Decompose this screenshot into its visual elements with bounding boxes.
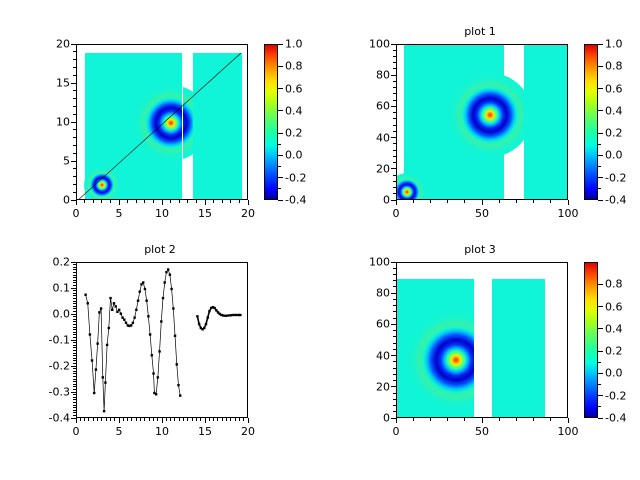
ytick-minor-2-2-1 <box>73 316 76 317</box>
plot-2-marker <box>227 314 229 316</box>
ytick-minor-1-3-4 <box>393 81 396 82</box>
ytick-minor-2-0-7 <box>73 280 76 281</box>
cbar-tick-3-1 <box>598 306 603 307</box>
plot-3-image <box>397 263 567 417</box>
ytick-minor-0-0-2 <box>73 184 76 185</box>
xticklabel-1-2: 100 <box>558 207 579 220</box>
ytick-minor-1-3-1 <box>393 100 396 101</box>
cbar-minortick-0-1 <box>278 188 281 189</box>
colorbar-gradient-0 <box>265 45 277 199</box>
plot-2-marker <box>145 300 147 302</box>
ytick-major-1-2 <box>391 137 396 138</box>
ytick-major-3-3 <box>391 324 396 325</box>
ytick-minor-2-2-4 <box>73 324 76 325</box>
ytick-minor-2-5-3 <box>73 399 76 400</box>
plot-2-marker <box>139 290 141 292</box>
yticklabel-0-2: 10 <box>28 116 70 129</box>
xticklabel-0-2: 10 <box>155 207 169 220</box>
plot-2-marker <box>87 302 89 304</box>
ytick-major-1-1 <box>391 168 396 169</box>
xtick-minor-2-2-5 <box>183 418 184 421</box>
cbar-ticklabel-1-1: 0.8 <box>605 60 623 73</box>
xtick-minor-2-0-9 <box>114 418 115 421</box>
plot-2-marker <box>157 376 159 378</box>
plot-2-marker <box>149 333 151 335</box>
xticklabel-2-4: 20 <box>241 425 255 438</box>
xtick-major-3-0 <box>396 418 397 423</box>
ytick-minor-3-4-3 <box>393 274 396 275</box>
cbar-minortick-1-4 <box>598 155 601 156</box>
ytick-minor-2-1-6 <box>73 303 76 304</box>
cbar-ticklabel-1-6: -0.2 <box>605 171 626 184</box>
cbar-ticklabel-3-0: 0.8 <box>605 278 623 291</box>
xticklabel-1-0: 0 <box>393 207 400 220</box>
plot-2-marker <box>225 315 227 317</box>
xtick-minor-3-1-1 <box>499 418 500 421</box>
plot-2-marker <box>116 311 118 313</box>
cbar-ticklabel-1-3: 0.4 <box>605 104 623 117</box>
ytick-major-2-6 <box>71 418 76 419</box>
ytick-major-2-5 <box>71 392 76 393</box>
cbar-ticklabel-0-7: -0.4 <box>285 194 306 207</box>
plot-2-marker <box>137 300 139 302</box>
xtick-minor-0-3-3 <box>230 200 231 203</box>
xtick-major-2-3 <box>205 418 206 423</box>
ytick-major-0-2 <box>71 122 76 123</box>
ytick-minor-3-4-2 <box>393 280 396 281</box>
plot-0-image <box>77 45 247 199</box>
xtick-minor-0-3-1 <box>213 200 214 203</box>
colorbar-1[interactable] <box>584 44 598 200</box>
plot-2-marker <box>158 350 160 352</box>
plot-2-marker <box>165 271 167 273</box>
ytick-minor-3-3-4 <box>393 299 396 300</box>
ytick-minor-0-1-1 <box>73 153 76 154</box>
plot-2-marker <box>108 327 110 329</box>
ytick-minor-3-4-1 <box>393 286 396 287</box>
xtick-minor-1-1-3 <box>533 200 534 203</box>
xtick-minor-0-2-2 <box>179 200 180 203</box>
ytick-minor-2-4-8 <box>73 386 76 387</box>
ytick-minor-3-2-3 <box>393 336 396 337</box>
ytick-major-3-0 <box>391 418 396 419</box>
plot-2-marker <box>222 314 224 316</box>
cbar-minortick-1-5 <box>598 144 601 145</box>
cbar-ticklabel-0-3: 0.4 <box>285 104 303 117</box>
xticklabel-3-2: 100 <box>558 425 579 438</box>
cbar-ticklabel-3-6: -0.4 <box>605 412 626 425</box>
plot-2-marker <box>179 394 181 396</box>
ytick-minor-2-3-5 <box>73 353 76 354</box>
cbar-minortick-0-4 <box>278 155 281 156</box>
xtick-minor-0-1-1 <box>127 200 128 203</box>
ytick-minor-1-1-4 <box>393 143 396 144</box>
plot-2-marker <box>203 327 205 329</box>
cbar-minortick-3-1 <box>598 406 601 407</box>
ytick-minor-2-5-2 <box>73 397 76 398</box>
xtick-minor-3-1-2 <box>516 418 517 421</box>
ytick-major-2-1 <box>71 288 76 289</box>
ytick-minor-2-1-1 <box>73 290 76 291</box>
plot-2-marker <box>104 381 106 383</box>
ytick-minor-3-4-4 <box>393 268 396 269</box>
plot-2-marker <box>205 323 207 325</box>
xtick-minor-2-3-7 <box>235 418 236 421</box>
plot-2-marker <box>239 314 241 316</box>
ytick-minor-2-2-9 <box>73 337 76 338</box>
xtick-minor-2-0-4 <box>93 418 94 421</box>
xtick-major-1-1 <box>482 200 483 205</box>
plot-2-marker <box>84 294 86 296</box>
cbar-tick-0-1 <box>278 66 283 67</box>
cbar-ticklabel-3-3: 0.2 <box>605 345 623 358</box>
yticklabel-3-3: 60 <box>348 318 390 331</box>
colorbar-gradient-3 <box>585 263 597 417</box>
ytick-minor-2-5-5 <box>73 405 76 406</box>
subplot-1-title: plot 1 <box>320 26 640 38</box>
cbar-minortick-1-6 <box>598 133 601 134</box>
ytick-minor-2-0-5 <box>73 275 76 276</box>
xtick-minor-1-0-3 <box>447 200 448 203</box>
xtick-minor-2-3-9 <box>243 418 244 421</box>
ytick-minor-0-2-4 <box>73 90 76 91</box>
ytick-major-2-2 <box>71 314 76 315</box>
xtick-minor-1-1-1 <box>499 200 500 203</box>
xtick-minor-2-3-3 <box>217 418 218 421</box>
xtick-minor-2-0-6 <box>101 418 102 421</box>
xticklabel-2-0: 0 <box>73 425 80 438</box>
plot-2-marker <box>177 384 179 386</box>
ytick-major-1-5 <box>391 44 396 45</box>
ytick-minor-2-5-6 <box>73 407 76 408</box>
plot-0-block-1 <box>84 53 209 199</box>
xtick-minor-2-3-6 <box>230 418 231 421</box>
cbar-minortick-3-6 <box>598 351 601 352</box>
plot-2-marker <box>109 297 111 299</box>
cbar-ticklabel-3-1: 0.6 <box>605 300 623 313</box>
xtick-minor-2-2-7 <box>192 418 193 421</box>
xtick-minor-1-0-2 <box>430 200 431 203</box>
xtick-minor-0-0-2 <box>93 200 94 203</box>
ytick-minor-3-2-2 <box>393 343 396 344</box>
cbar-tick-0-0 <box>278 44 283 45</box>
plot-2-marker <box>151 354 153 356</box>
ytick-minor-2-1-7 <box>73 306 76 307</box>
ytick-minor-0-2-1 <box>73 114 76 115</box>
plot-area-2[interactable] <box>76 262 248 418</box>
plot-2-marker <box>123 318 125 320</box>
yticklabel-3-4: 80 <box>348 287 390 300</box>
yticklabel-0-4: 20 <box>28 38 70 51</box>
xtick-minor-2-1-9 <box>157 418 158 421</box>
colorbar-gradient-1 <box>585 45 597 199</box>
yticklabel-0-1: 5 <box>28 155 70 168</box>
plot-2-marker <box>93 392 95 394</box>
ytick-minor-0-3-2 <box>73 67 76 68</box>
ytick-minor-0-0-3 <box>73 176 76 177</box>
plot-1-image <box>397 45 567 199</box>
subplot-plot-3: plot 3 0501000204060801000.80.60.40.20.0… <box>320 240 640 480</box>
ytick-minor-2-5-4 <box>73 402 76 403</box>
ytick-minor-2-4-2 <box>73 371 76 372</box>
ytick-minor-1-0-1 <box>393 193 396 194</box>
xtick-minor-0-0-3 <box>101 200 102 203</box>
ytick-minor-3-0-3 <box>393 399 396 400</box>
plot-0-canvas <box>77 45 247 199</box>
cbar-ticklabel-0-1: 0.8 <box>285 60 303 73</box>
ytick-minor-0-2-2 <box>73 106 76 107</box>
xticklabel-0-4: 20 <box>241 207 255 220</box>
plot-1-canvas <box>397 45 567 199</box>
ytick-minor-1-1-3 <box>393 150 396 151</box>
yticklabel-2-1: 0.1 <box>28 282 70 295</box>
ytick-minor-0-3-4 <box>73 51 76 52</box>
cbar-tick-3-0 <box>598 284 603 285</box>
xtick-minor-2-3-2 <box>213 418 214 421</box>
xtick-minor-0-1-2 <box>136 200 137 203</box>
ytick-minor-2-3-8 <box>73 360 76 361</box>
plot-2-marker <box>135 309 137 311</box>
ytick-minor-1-1-2 <box>393 156 396 157</box>
ytick-minor-2-3-4 <box>73 350 76 351</box>
plot-2-marker <box>213 307 215 309</box>
yticklabel-2-6: -0.4 <box>28 412 70 425</box>
ytick-minor-3-1-3 <box>393 368 396 369</box>
ytick-minor-2-4-6 <box>73 381 76 382</box>
plot-3-block-2 <box>492 279 545 417</box>
cbar-minortick-3-3 <box>598 384 601 385</box>
ytick-minor-2-3-6 <box>73 355 76 356</box>
ytick-minor-1-2-3 <box>393 118 396 119</box>
xtick-minor-0-3-2 <box>222 200 223 203</box>
ytick-minor-2-0-2 <box>73 267 76 268</box>
cbar-ticklabel-3-4: 0.0 <box>605 367 623 380</box>
ytick-minor-2-0-3 <box>73 269 76 270</box>
cbar-ticklabel-0-6: -0.2 <box>285 171 306 184</box>
xtick-minor-2-0-2 <box>84 418 85 421</box>
ytick-major-0-3 <box>71 83 76 84</box>
xtick-minor-2-2-2 <box>170 418 171 421</box>
ytick-minor-0-3-1 <box>73 75 76 76</box>
xtick-major-0-0 <box>76 200 77 205</box>
ytick-minor-2-1-9 <box>73 311 76 312</box>
cbar-tick-1-3 <box>598 110 603 111</box>
cbar-ticklabel-1-4: 0.2 <box>605 127 623 140</box>
ytick-major-2-0 <box>71 262 76 263</box>
ytick-minor-2-1-3 <box>73 295 76 296</box>
xticklabel-2-3: 15 <box>198 425 212 438</box>
xticklabel-1-1: 50 <box>475 207 489 220</box>
xtick-minor-1-1-2 <box>516 200 517 203</box>
xtick-minor-3-0-2 <box>430 418 431 421</box>
xtick-minor-0-1-4 <box>153 200 154 203</box>
yticklabel-2-0: 0.2 <box>28 256 70 269</box>
ytick-minor-2-1-4 <box>73 298 76 299</box>
ytick-minor-2-0-8 <box>73 282 76 283</box>
ytick-minor-2-3-7 <box>73 358 76 359</box>
cbar-ticklabel-3-2: 0.4 <box>605 322 623 335</box>
ytick-minor-2-1-5 <box>73 301 76 302</box>
plot-2-marker <box>147 315 149 317</box>
ytick-minor-1-2-4 <box>393 112 396 113</box>
xtick-major-0-3 <box>205 200 206 205</box>
plot-2-marker <box>95 368 97 370</box>
xticklabel-3-1: 50 <box>475 425 489 438</box>
plot-2-marker <box>198 323 200 325</box>
yticklabel-3-0: 0 <box>348 412 390 425</box>
ytick-major-0-0 <box>71 200 76 201</box>
ytick-minor-2-1-8 <box>73 308 76 309</box>
cbar-tick-0-2 <box>278 88 283 89</box>
plot-2-marker <box>230 314 232 316</box>
xtick-major-3-1 <box>482 418 483 423</box>
cbar-tick-3-2 <box>598 328 603 329</box>
ytick-minor-2-3-1 <box>73 342 76 343</box>
ytick-minor-1-0-4 <box>393 175 396 176</box>
cbar-ticklabel-1-5: 0.0 <box>605 149 623 162</box>
ytick-major-1-4 <box>391 75 396 76</box>
xtick-minor-1-0-1 <box>413 200 414 203</box>
plot-2-marker <box>172 307 174 309</box>
cbar-minortick-1-3 <box>598 166 601 167</box>
ytick-minor-1-0-3 <box>393 181 396 182</box>
xtick-minor-1-0-4 <box>464 200 465 203</box>
ytick-minor-1-2-2 <box>393 125 396 126</box>
xtick-minor-0-0-1 <box>84 200 85 203</box>
cbar-minortick-3-5 <box>598 362 601 363</box>
xtick-minor-2-3-4 <box>222 418 223 421</box>
cbar-ticklabel-0-0: 1.0 <box>285 38 303 51</box>
ytick-minor-1-4-1 <box>393 68 396 69</box>
xtick-major-2-1 <box>119 418 120 423</box>
plot-2-canvas <box>77 263 247 417</box>
ytick-major-0-1 <box>71 161 76 162</box>
plot-area-0[interactable] <box>76 44 248 200</box>
cbar-ticklabel-3-5: -0.2 <box>605 389 626 402</box>
plot-2-marker <box>152 372 154 374</box>
ytick-minor-2-5-7 <box>73 410 76 411</box>
plot-2-marker <box>142 281 144 283</box>
ytick-major-0-4 <box>71 44 76 45</box>
subplot-3-title: plot 3 <box>320 244 640 256</box>
subplot-plot-1: plot 1 0501000204060801001.00.80.60.40.2… <box>320 0 640 240</box>
ytick-major-3-1 <box>391 386 396 387</box>
ytick-minor-0-1-4 <box>73 129 76 130</box>
colorbar-3[interactable] <box>584 262 598 418</box>
ytick-minor-2-2-5 <box>73 327 76 328</box>
plot-2-marker <box>120 313 122 315</box>
plot-2-marker <box>102 376 104 378</box>
ytick-minor-1-4-4 <box>393 50 396 51</box>
ytick-minor-3-1-1 <box>393 380 396 381</box>
ytick-minor-2-4-7 <box>73 384 76 385</box>
plot-2-marker <box>232 314 234 316</box>
ytick-minor-3-1-4 <box>393 361 396 362</box>
xtick-minor-3-1-4 <box>550 418 551 421</box>
plot-2-marker <box>91 359 93 361</box>
plot-2-marker <box>118 309 120 311</box>
ytick-minor-1-4-2 <box>393 62 396 63</box>
ytick-major-1-3 <box>391 106 396 107</box>
ytick-minor-3-3-2 <box>393 311 396 312</box>
ytick-minor-2-1-2 <box>73 293 76 294</box>
plot-2-marker <box>132 322 134 324</box>
xtick-minor-0-1-3 <box>144 200 145 203</box>
plot-2-marker <box>170 288 172 290</box>
yticklabel-1-3: 60 <box>348 100 390 113</box>
cbar-tick-1-1 <box>598 66 603 67</box>
yticklabel-2-4: -0.2 <box>28 360 70 373</box>
xtick-minor-2-2-9 <box>200 418 201 421</box>
ytick-minor-1-0-2 <box>393 187 396 188</box>
plot-0-block-2 <box>193 53 242 199</box>
ytick-minor-2-3-3 <box>73 347 76 348</box>
plot-3-canvas <box>397 263 567 417</box>
cbar-minortick-3-0 <box>598 418 601 419</box>
xtick-minor-2-0-5 <box>97 418 98 421</box>
plot-2-marker <box>115 305 117 307</box>
xtick-minor-2-1-3 <box>131 418 132 421</box>
xtick-minor-2-3-8 <box>239 418 240 421</box>
ytick-minor-2-5-8 <box>73 412 76 413</box>
xtick-minor-3-1-3 <box>533 418 534 421</box>
ytick-minor-0-0-4 <box>73 168 76 169</box>
xtick-minor-0-3-4 <box>239 200 240 203</box>
plot-2-marker <box>103 410 105 412</box>
yticklabel-1-2: 40 <box>348 131 390 144</box>
ytick-minor-3-0-1 <box>393 411 396 412</box>
ytick-minor-3-0-4 <box>393 393 396 394</box>
xtick-minor-2-2-6 <box>187 418 188 421</box>
yticklabel-1-0: 0 <box>348 194 390 207</box>
xtick-minor-1-1-4 <box>550 200 551 203</box>
cbar-minortick-0-6 <box>278 133 281 134</box>
xtick-major-2-4 <box>248 418 249 423</box>
ytick-minor-0-0-1 <box>73 192 76 193</box>
xtick-minor-0-2-1 <box>170 200 171 203</box>
ytick-minor-2-2-2 <box>73 319 76 320</box>
plot-2-marker <box>164 281 166 283</box>
cbar-minortick-0-5 <box>278 144 281 145</box>
plot-area-1[interactable] <box>396 44 568 200</box>
xtick-major-2-2 <box>162 418 163 423</box>
ytick-minor-2-4-9 <box>73 389 76 390</box>
ytick-minor-2-0-9 <box>73 285 76 286</box>
plot-2-marker <box>196 315 198 317</box>
xtick-minor-3-0-3 <box>447 418 448 421</box>
ytick-minor-3-3-1 <box>393 318 396 319</box>
ytick-minor-2-2-6 <box>73 329 76 330</box>
plot-area-3[interactable] <box>396 262 568 418</box>
xticklabel-0-0: 0 <box>73 207 80 220</box>
ytick-minor-2-0-1 <box>73 264 76 265</box>
ytick-minor-2-0-4 <box>73 272 76 273</box>
matplotlib-figure: 05101520051015201.00.80.60.40.20.0-0.2-0… <box>0 0 640 480</box>
colorbar-0[interactable] <box>264 44 278 200</box>
cbar-tick-0-3 <box>278 110 283 111</box>
plot-2-marker <box>155 393 157 395</box>
ytick-minor-2-2-3 <box>73 321 76 322</box>
ytick-minor-2-3-9 <box>73 363 76 364</box>
ytick-minor-2-2-7 <box>73 332 76 333</box>
ytick-minor-0-3-3 <box>73 59 76 60</box>
cbar-tick-1-0 <box>598 44 603 45</box>
plot-2-lineplot <box>77 263 247 417</box>
ytick-minor-3-0-2 <box>393 405 396 406</box>
plot-2-marker <box>130 324 132 326</box>
ytick-minor-3-2-1 <box>393 349 396 350</box>
xtick-major-0-1 <box>119 200 120 205</box>
